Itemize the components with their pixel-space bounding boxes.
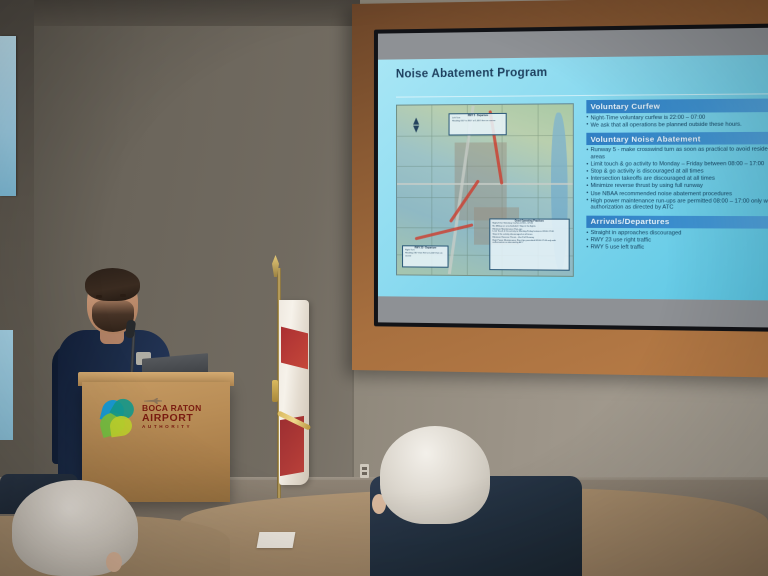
flag-tassel	[272, 380, 278, 402]
slide-text-column: Voluntary Curfew Night-Time voluntary cu…	[586, 99, 768, 294]
logo-wordmark: BOCA RATON AIRPORT AUTHORITY	[142, 404, 222, 430]
window-lower-left	[0, 330, 13, 440]
swoosh-logo-icon	[100, 398, 140, 438]
attendee-head-center	[380, 426, 490, 524]
map-callout-rwy23: RWY 23 - Departure Right Turn Heading 23…	[402, 246, 449, 268]
speaker-eye-right	[120, 294, 126, 297]
conference-room-photo: Noise Abatement Program	[0, 0, 768, 576]
bullet: High power maintenance run-ups are permi…	[586, 198, 768, 212]
section-voluntary-curfew: Voluntary Curfew Night-Time voluntary cu…	[586, 99, 768, 129]
ceiling	[0, 0, 360, 26]
compass-rose	[409, 117, 424, 132]
bullet: Use NBAA recommended noise abatement pro…	[586, 191, 768, 198]
section-arrivals-departures: Arrivals/Departures Straight in approach…	[586, 215, 768, 252]
section-heading: Voluntary Noise Abatement	[586, 132, 768, 146]
map-callout-good-practices: Good Operating Practices Night-Time Volu…	[489, 219, 569, 271]
callout-line: High Power Maintenance Run-Ups permitted…	[492, 239, 566, 245]
slide-title-divider	[396, 93, 768, 97]
speaker-hair	[85, 268, 140, 301]
bullet: Stop & go activity is discouraged at all…	[586, 168, 768, 175]
bullet: RWY 5 use left traffic	[586, 244, 768, 252]
bullet: Runway 5 - make crosswind turn as soon a…	[586, 147, 768, 161]
noise-contour-map: RWY 5 - Departure Left Turn Heading 050°…	[396, 103, 574, 277]
bullet: We ask that all operations be planned ou…	[586, 121, 768, 129]
slide-title: Noise Abatement Program	[396, 67, 547, 81]
bullet: Intersection takeoffs are discouraged at…	[586, 176, 768, 183]
callout-line: Heading 050° to 360° at 1,000' then on c…	[452, 120, 504, 123]
callout-line: Heading 230° then Ref at 1,000' then on …	[405, 252, 446, 258]
bullet: Limit touch & go activity to Monday – Fr…	[586, 161, 768, 168]
flag-cross-upper	[281, 327, 308, 370]
section-voluntary-noise-abatement: Voluntary Noise Abatement Runway 5 - mak…	[586, 132, 768, 212]
display-wood-frame: Noise Abatement Program	[352, 0, 768, 378]
logo-line-2: AIRPORT	[142, 413, 222, 424]
map-callout-rwy5: RWY 5 - Departure Left Turn Heading 050°…	[449, 113, 507, 135]
paper-document[interactable]	[257, 532, 296, 548]
section-heading: Voluntary Curfew	[586, 99, 768, 113]
map-road	[397, 183, 573, 185]
speaker-eye-left	[96, 295, 102, 298]
wall-outlet[interactable]	[360, 464, 369, 478]
bullet: Minimize reverse thrust by using full ru…	[586, 183, 768, 190]
window-upper-left	[0, 36, 16, 196]
display-bezel: Noise Abatement Program	[374, 23, 768, 332]
section-heading: Arrivals/Departures	[586, 215, 768, 228]
attendee-ear	[106, 552, 122, 572]
boca-raton-airport-authority-logo: BOCA RATON AIRPORT AUTHORITY	[100, 396, 222, 440]
slide-canvas: Noise Abatement Program	[378, 54, 768, 300]
presentation-screen[interactable]: Noise Abatement Program	[378, 27, 768, 327]
logo-line-3: AUTHORITY	[142, 424, 222, 430]
